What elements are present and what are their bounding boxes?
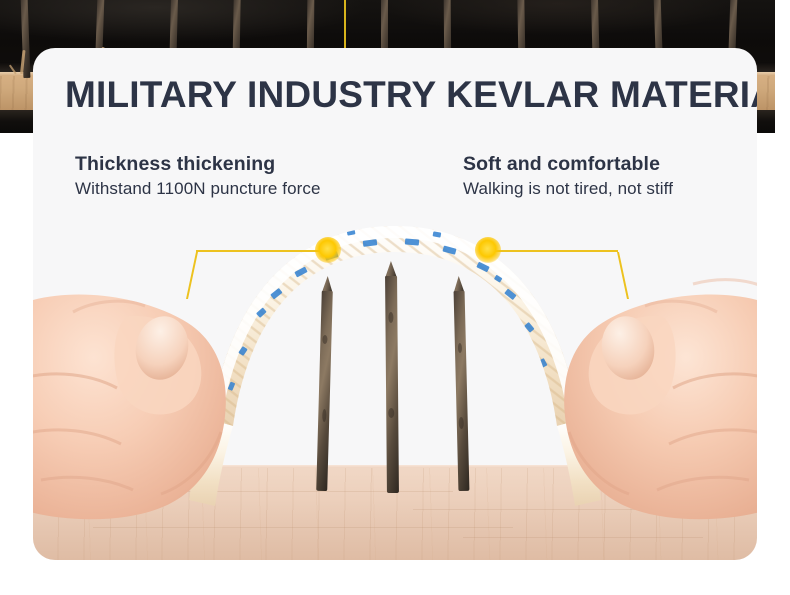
- right-fist: [564, 280, 757, 520]
- left-fist: [33, 295, 226, 520]
- hands-layer: [33, 48, 757, 560]
- callout-dot-left: [315, 237, 341, 263]
- feature-card: MILITARY INDUSTRY KEVLAR MATERIAL Thickn…: [33, 48, 757, 560]
- callout-dot-right: [475, 237, 501, 263]
- banner-root: MILITARY INDUSTRY KEVLAR MATERIAL Thickn…: [0, 0, 790, 595]
- leader-line-right-horizontal: [485, 250, 618, 252]
- leader-line-left-horizontal: [196, 250, 329, 252]
